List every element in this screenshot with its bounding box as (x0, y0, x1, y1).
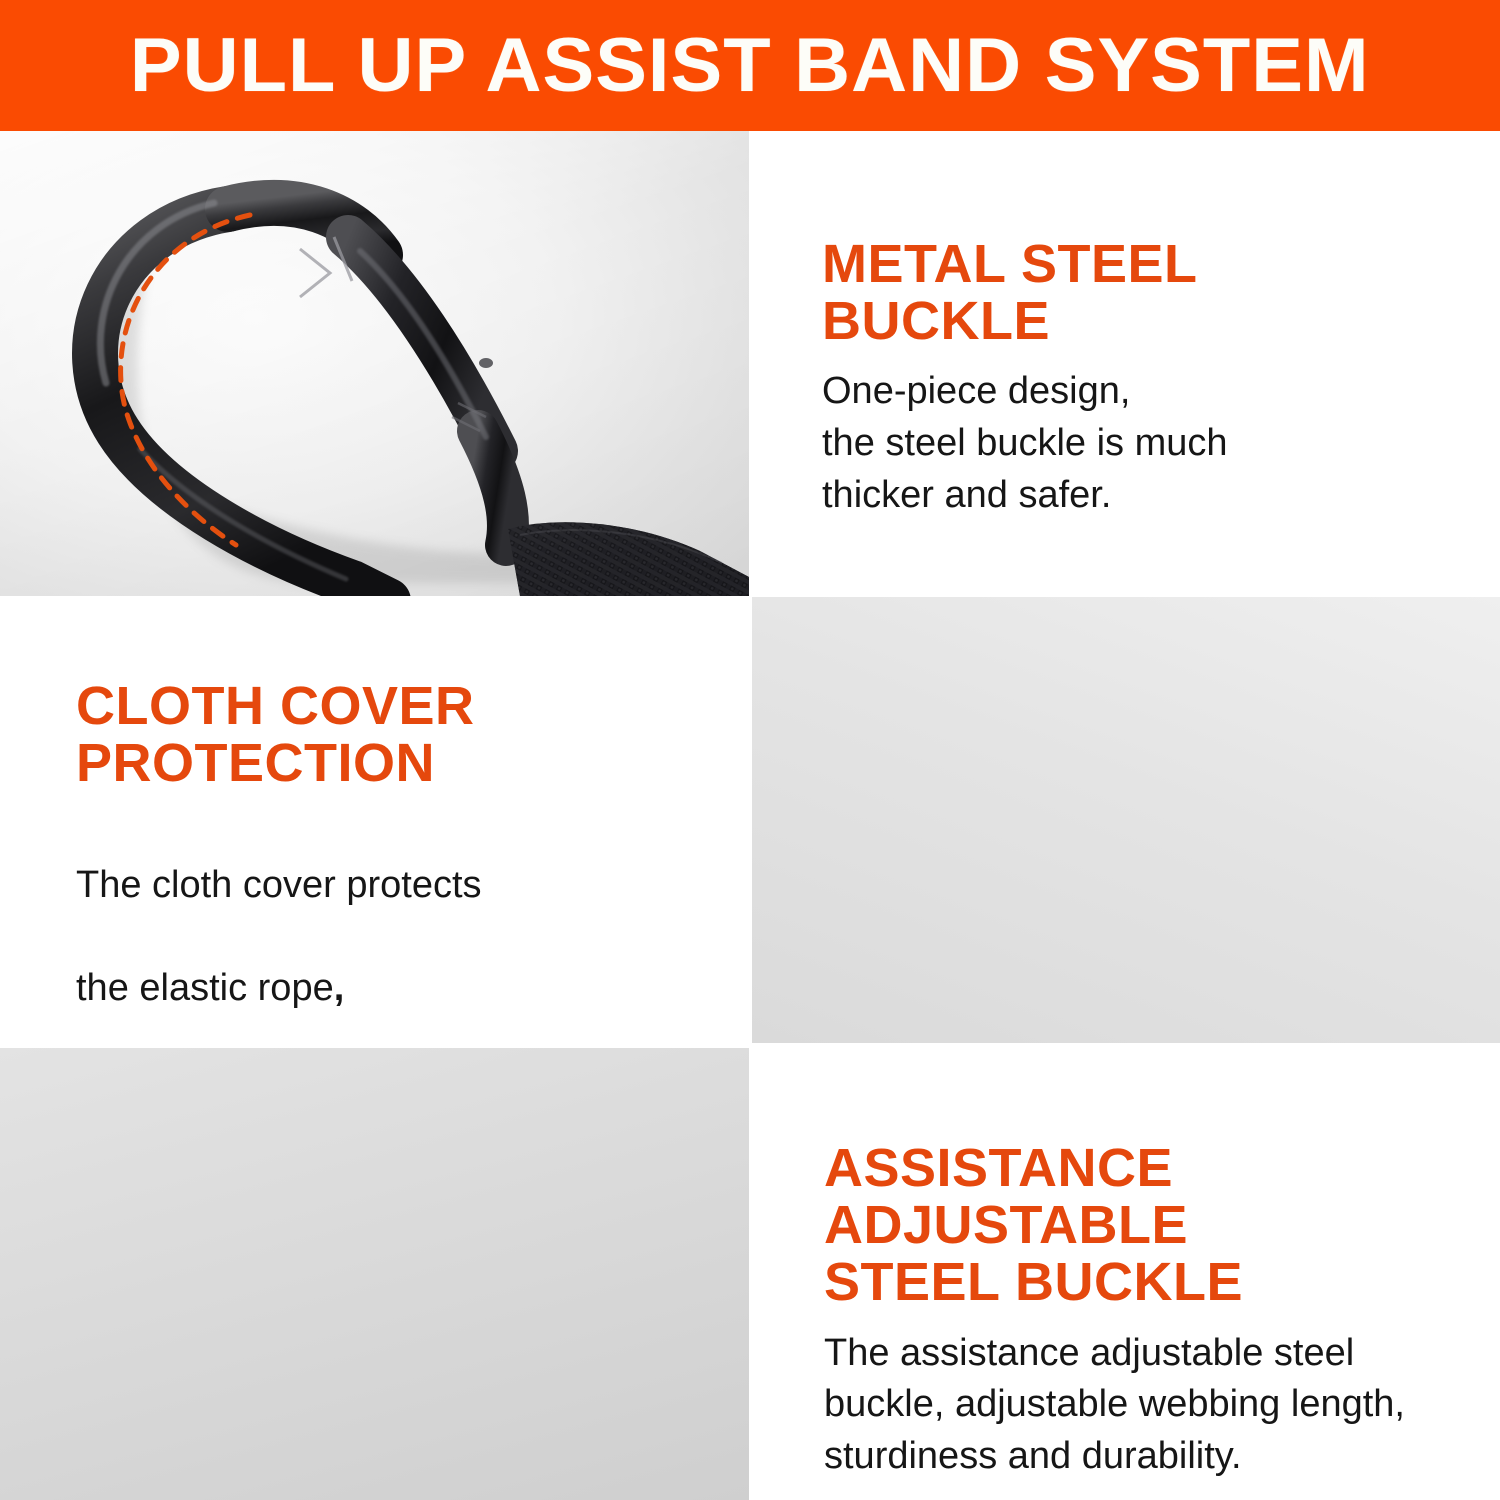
infographic-page: PULL UP ASSIST BAND SYSTEM (0, 0, 1500, 1500)
photo-background (752, 597, 1500, 1043)
metal-steel-buckle-body: One-piece design, the steel buckle is mu… (822, 366, 1442, 521)
page-title: PULL UP ASSIST BAND SYSTEM (130, 28, 1370, 104)
assistance-adjustable-buckle-heading: ASSISTANCE ADJUSTABLE STEEL BUCKLE (824, 1140, 1464, 1312)
metal-steel-buckle-textblock: METAL STEEL BUCKLE One-piece design, the… (822, 236, 1442, 521)
cloth-cover-body-line-1: The cloth cover protects (76, 864, 482, 906)
cam-buckle-webbing-photo (0, 1048, 749, 1500)
metal-steel-buckle-heading: METAL STEEL BUCKLE (822, 236, 1442, 350)
cloth-cover-weave-photo (752, 597, 1500, 1043)
photo-background (0, 1048, 749, 1500)
assistance-adjustable-buckle-textblock: ASSISTANCE ADJUSTABLE STEEL BUCKLE The a… (824, 1140, 1464, 1483)
cloth-cover-body-comma: , (334, 967, 345, 1009)
assistance-adjustable-buckle-body: The assistance adjustable steel buckle, … (824, 1328, 1464, 1483)
cloth-cover-body-line-2: the elastic rope (76, 967, 334, 1009)
carabiner-illustration (0, 131, 749, 596)
header-banner: PULL UP ASSIST BAND SYSTEM (0, 0, 1500, 131)
carabiner-snap-hook-photo (0, 131, 749, 596)
cloth-cover-heading: CLOTH COVER PROTECTION (76, 678, 716, 792)
